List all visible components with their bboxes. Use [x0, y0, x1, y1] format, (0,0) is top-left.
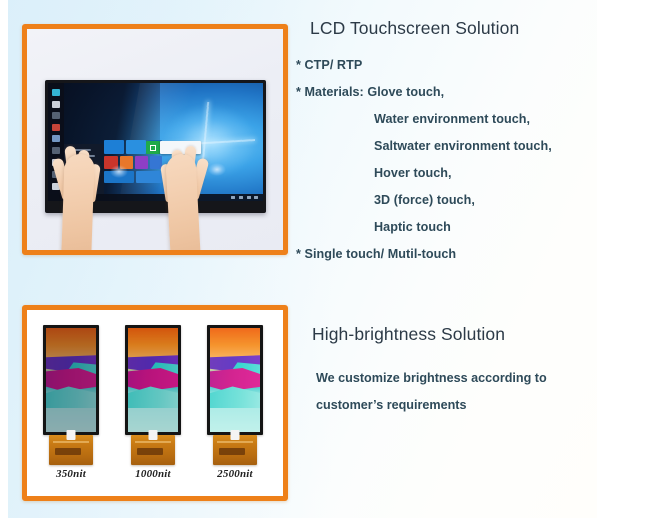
lcd-modules-photo: 350nit: [27, 310, 283, 496]
touchscreen-section-title: LCD Touchscreen Solution: [310, 18, 519, 39]
touchscreen-line-5: Hover touch,: [374, 166, 452, 180]
touchscreen-line-7: Haptic touch: [374, 220, 451, 234]
slide-root: 350nit: [0, 0, 650, 518]
touchscreen-line-6: 3D (force) touch,: [374, 193, 475, 207]
lcd-test-pattern: [128, 328, 178, 432]
module-label: 1000nit: [125, 468, 181, 480]
flex-cable: [49, 435, 93, 465]
lcd-modules-image-frame: 350nit: [22, 305, 288, 501]
lcd-glass: [207, 325, 263, 435]
brightness-line-2: customer’s requirements: [316, 398, 466, 412]
flex-cable: [213, 435, 257, 465]
touchscreen-line-8: * Single touch/ Mutil-touch: [296, 247, 456, 261]
flex-cable: [131, 435, 175, 465]
lcd-test-pattern: [210, 328, 260, 432]
touchscreen-image-frame: [22, 24, 288, 255]
lcd-module: 350nit: [43, 325, 99, 480]
lcd-module: 2500nit: [207, 325, 263, 480]
module-label: 350nit: [43, 468, 99, 480]
hand-right: [163, 150, 217, 250]
touchscreen-line-3: Water environment touch,: [374, 112, 530, 126]
touchscreen-line-1: * CTP/ RTP: [296, 58, 362, 72]
tile-green-app[interactable]: [146, 141, 160, 154]
lcd-module: 1000nit: [125, 325, 181, 480]
brightness-line-1: We customize brightness according to: [316, 371, 547, 385]
lcd-glass: [125, 325, 181, 435]
lcd-glass: [43, 325, 99, 435]
brightness-section-title: High-brightness Solution: [312, 324, 505, 345]
hand-left: [63, 150, 117, 250]
module-label: 2500nit: [207, 468, 263, 480]
lcd-test-pattern: [46, 328, 96, 432]
touchscreen-monitor-photo: [27, 29, 283, 250]
touchscreen-line-2: * Materials: Glove touch,: [296, 85, 444, 99]
touchscreen-line-4: Saltwater environment touch,: [374, 139, 552, 153]
